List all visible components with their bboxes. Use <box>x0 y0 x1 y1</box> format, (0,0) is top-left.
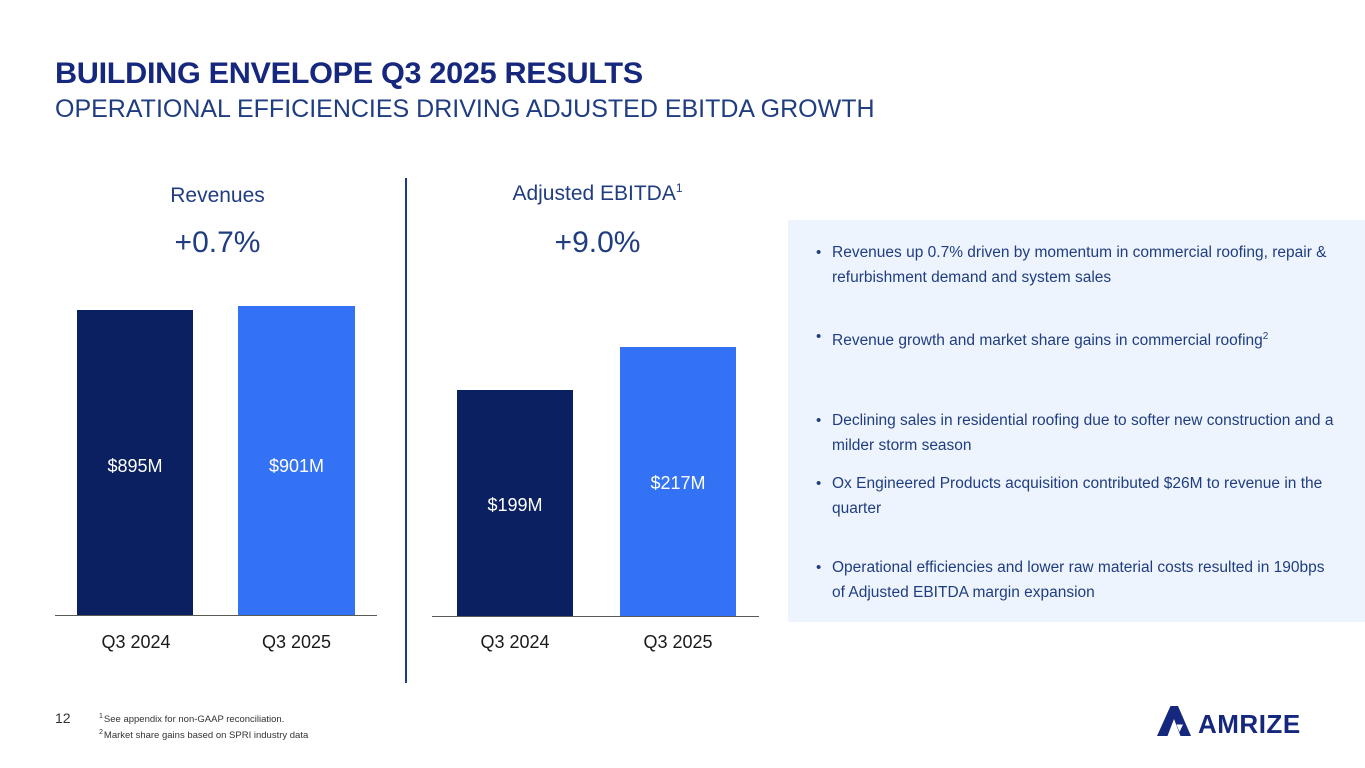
vertical-divider <box>405 178 407 683</box>
brand-wordmark: AMRIZE <box>1198 711 1301 737</box>
commentary-bullet-5: • Operational efficiencies and lower raw… <box>816 557 1336 603</box>
bar-value-revenues-q3-2024: $895M <box>77 456 193 477</box>
commentary-bullet-3: • Declining sales in residential roofing… <box>816 410 1336 456</box>
footnote-2: 2Market share gains based on SPRI indust… <box>99 726 308 742</box>
commentary-bullet-4-text: Ox Engineered Products acquisition contr… <box>832 473 1336 519</box>
axis-line-revenues <box>55 615 377 616</box>
commentary-bullet-3-body: Declining sales in residential roofing d… <box>832 412 1333 454</box>
chart-adjusted-ebitda-heading-text: Adjusted EBITDA <box>512 182 675 205</box>
title-block: BUILDING ENVELOPE Q3 2025 RESULTS OPERAT… <box>55 58 1055 124</box>
bullet-marker-icon: • <box>816 326 832 347</box>
commentary-bullet-4: • Ox Engineered Products acquisition con… <box>816 473 1336 519</box>
chart-revenues-delta: +0.7% <box>60 226 375 260</box>
footnotes: 1See appendix for non-GAAP reconciliatio… <box>99 710 308 742</box>
commentary-panel: • Revenues up 0.7% driven by momentum in… <box>788 220 1365 622</box>
bar-revenues-q3-2025: $901M <box>238 306 355 615</box>
footnote-1: 1See appendix for non-GAAP reconciliatio… <box>99 710 308 726</box>
footnote-1-mark: 1 <box>99 713 103 720</box>
commentary-bullet-1-body: Revenues up 0.7% driven by momentum in c… <box>832 244 1327 286</box>
commentary-bullet-1: • Revenues up 0.7% driven by momentum in… <box>816 242 1336 288</box>
commentary-bullet-2: • Revenue growth and market share gains … <box>816 326 1336 351</box>
footnote-2-mark: 2 <box>99 729 103 736</box>
commentary-bullet-5-body: Operational efficiencies and lower raw m… <box>832 559 1325 601</box>
commentary-bullet-2-body: Revenue growth and market share gains in… <box>832 332 1263 349</box>
commentary-bullet-5-text: Operational efficiencies and lower raw m… <box>832 557 1336 603</box>
commentary-bullet-1-text: Revenues up 0.7% driven by momentum in c… <box>832 242 1336 288</box>
footnote-2-text: Market share gains based on SPRI industr… <box>104 730 308 741</box>
commentary-bullet-4-body: Ox Engineered Products acquisition contr… <box>832 475 1322 517</box>
bar-revenues-q3-2024: $895M <box>77 310 193 615</box>
commentary-bullet-2-text: Revenue growth and market share gains in… <box>832 326 1336 351</box>
bar-ebitda-q3-2024: $199M <box>457 390 573 616</box>
page-number: 12 <box>55 710 71 726</box>
bar-value-revenues-q3-2025: $901M <box>238 456 355 477</box>
bullet-marker-icon: • <box>816 557 832 578</box>
bullet-marker-icon: • <box>816 242 832 263</box>
axis-line-adjusted-ebitda <box>432 616 759 617</box>
bar-value-ebitda-q3-2025: $217M <box>620 473 736 494</box>
page-title: BUILDING ENVELOPE Q3 2025 RESULTS <box>55 58 1075 90</box>
bar-ebitda-q3-2025: $217M <box>620 347 736 616</box>
footnote-1-text: See appendix for non-GAAP reconciliation… <box>104 714 284 725</box>
brand-logo: AMRIZE <box>1157 706 1301 741</box>
commentary-bullet-2-superscript: 2 <box>1263 331 1269 342</box>
chart-adjusted-ebitda-delta: +9.0% <box>440 226 755 260</box>
cat-label-revenues-q3-2024: Q3 2024 <box>78 632 194 653</box>
page-subtitle: OPERATIONAL EFFICIENCIES DRIVING ADJUSTE… <box>55 94 1055 124</box>
bar-value-ebitda-q3-2024: $199M <box>457 495 573 516</box>
chart-adjusted-ebitda-heading: Adjusted EBITDA1 <box>440 181 755 206</box>
bullet-marker-icon: • <box>816 473 832 494</box>
commentary-bullet-3-text: Declining sales in residential roofing d… <box>832 410 1336 456</box>
chart-revenues-heading: Revenues <box>60 184 375 208</box>
bullet-marker-icon: • <box>816 410 832 431</box>
cat-label-revenues-q3-2025: Q3 2025 <box>238 632 355 653</box>
chart-revenues-heading-text: Revenues <box>170 184 265 207</box>
cat-label-ebitda-q3-2025: Q3 2025 <box>620 632 736 653</box>
chart-adjusted-ebitda-heading-superscript: 1 <box>676 181 683 195</box>
cat-label-ebitda-q3-2024: Q3 2024 <box>457 632 573 653</box>
amrize-mark-icon <box>1157 706 1191 741</box>
